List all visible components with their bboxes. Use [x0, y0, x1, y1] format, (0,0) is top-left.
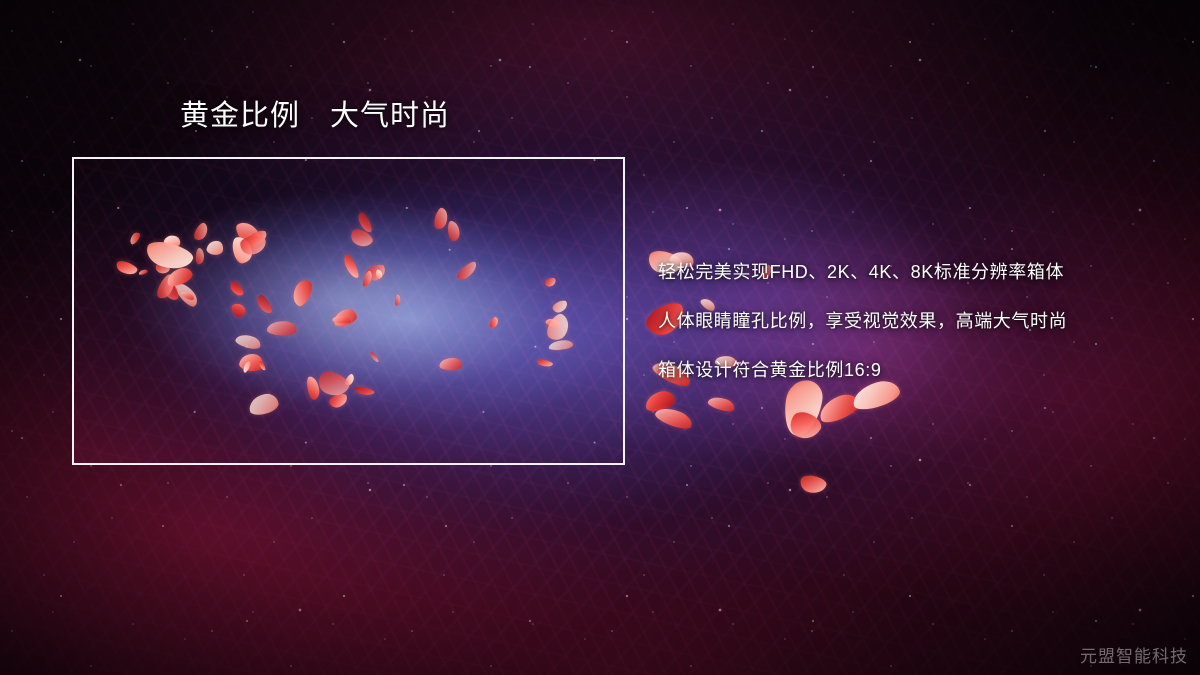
flower-petal	[643, 389, 676, 414]
page-title: 黄金比例 大气时尚	[180, 99, 450, 134]
flower-petal	[798, 473, 828, 497]
panel-nebula-photo	[74, 159, 623, 463]
feature-line-2: 人体眼睛瞳孔比例，享受视觉效果，高端大气时尚	[658, 307, 1168, 333]
flower-petal	[781, 378, 824, 438]
feature-line-3: 箱体设计符合黄金比例16:9	[658, 356, 1168, 382]
product-image-panel[interactable]	[72, 157, 625, 465]
feature-line-1: 轻松完美实现FHD、2K、4K、8K标准分辨率箱体	[658, 258, 1168, 284]
flower-petal	[707, 394, 736, 414]
panel-image-clip	[74, 159, 623, 463]
feature-description-block: 轻松完美实现FHD、2K、4K、8K标准分辨率箱体 人体眼睛瞳孔比例，享受视觉效…	[658, 258, 1168, 382]
brand-watermark: 元盟智能科技	[1080, 642, 1188, 667]
flower-petal	[786, 407, 825, 445]
slide-canvas: 黄金比例 大气时尚 轻松完美实现FHD、2K、4K、8K标准分辨率箱体 人体眼睛…	[0, 0, 1200, 675]
flower-petal	[653, 403, 694, 432]
flower-petal	[850, 377, 903, 413]
panel-starfield	[74, 159, 623, 463]
flower-petal	[815, 390, 862, 426]
